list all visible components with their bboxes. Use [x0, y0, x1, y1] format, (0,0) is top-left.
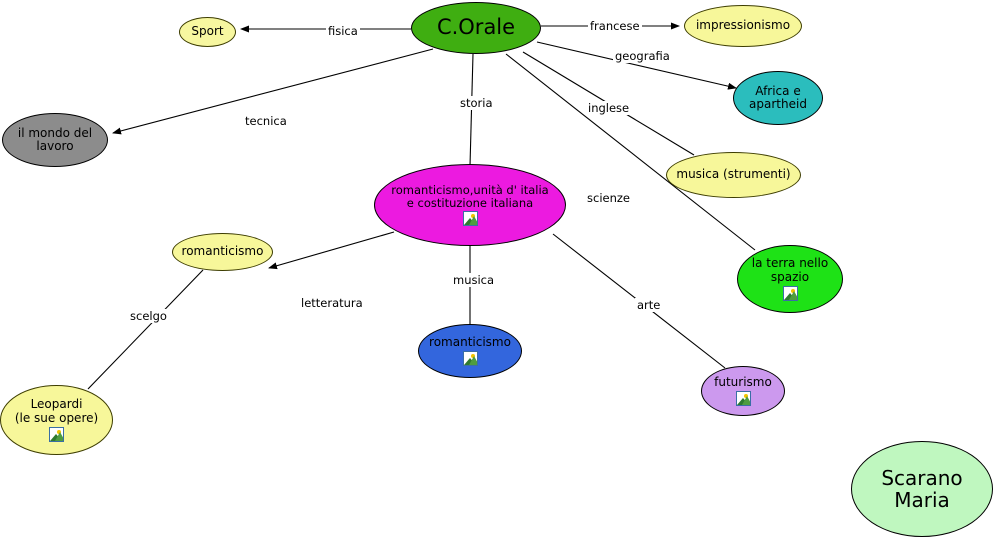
node-label: romanticismo [178, 245, 268, 258]
edge-letteratura [269, 232, 394, 268]
node-label: Africa e apartheid [745, 85, 811, 112]
picture-icon[interactable] [463, 211, 478, 226]
node-label: romanticismo,unità d' italia e costituzi… [387, 184, 552, 210]
edge-label-arte: arte [635, 298, 662, 312]
edge-label-geografia: geografia [613, 49, 672, 63]
picture-icon[interactable] [463, 351, 478, 366]
node-musica-strumenti[interactable]: musica (strumenti) [666, 152, 801, 198]
edge-label-storia: storia [458, 96, 495, 110]
node-c-orale[interactable]: C.Orale [411, 2, 541, 54]
node-label: Scarano Maria [877, 467, 966, 512]
edge-label-scienze: scienze [585, 191, 632, 205]
edge-label-inglese: inglese [586, 101, 631, 115]
node-label: musica (strumenti) [672, 168, 794, 181]
node-centro-romanticismo[interactable]: romanticismo,unità d' italia e costituzi… [374, 164, 566, 246]
picture-icon[interactable] [783, 286, 798, 301]
node-impressionismo[interactable]: impressionismo [684, 5, 802, 47]
node-scarano-maria[interactable]: Scarano Maria [851, 441, 993, 537]
edge-scelgo [88, 270, 203, 389]
edge-label-francese: francese [588, 19, 642, 33]
edge-label-letteratura: letteratura [299, 296, 365, 310]
edge-label-musica: musica [451, 273, 496, 287]
picture-icon[interactable] [736, 391, 751, 406]
node-label: Leopardi (le sue opere) [11, 398, 102, 425]
node-label: impressionismo [692, 19, 794, 32]
edge-layer [0, 0, 997, 540]
node-label: Sport [187, 25, 227, 38]
node-africa-apartheid[interactable]: Africa e apartheid [733, 71, 823, 125]
node-label: futurismo [710, 376, 776, 389]
edge-label-fisica: fisica [326, 24, 360, 38]
node-label: il mondo del lavoro [14, 127, 96, 154]
edge-label-scelgo: scelgo [128, 309, 169, 323]
node-leopardi[interactable]: Leopardi (le sue opere) [0, 385, 113, 455]
node-futurismo[interactable]: futurismo [701, 366, 785, 416]
node-romanticismo-musica[interactable]: romanticismo [418, 324, 522, 378]
concept-map-canvas: C.OraleSportimpressionismoAfrica e apart… [0, 0, 997, 540]
node-romanticismo-letteratura[interactable]: romanticismo [172, 233, 273, 271]
node-label: C.Orale [433, 16, 519, 40]
node-label: romanticismo [425, 336, 515, 349]
edge-storia [470, 54, 473, 166]
picture-icon[interactable] [49, 427, 64, 442]
node-label: la terra nello spazio [748, 257, 832, 284]
node-sport[interactable]: Sport [179, 17, 236, 47]
node-il-mondo-del-lavoro[interactable]: il mondo del lavoro [2, 113, 108, 167]
edge-label-tecnica: tecnica [243, 114, 289, 128]
node-la-terra-nello-spazio[interactable]: la terra nello spazio [737, 245, 843, 313]
